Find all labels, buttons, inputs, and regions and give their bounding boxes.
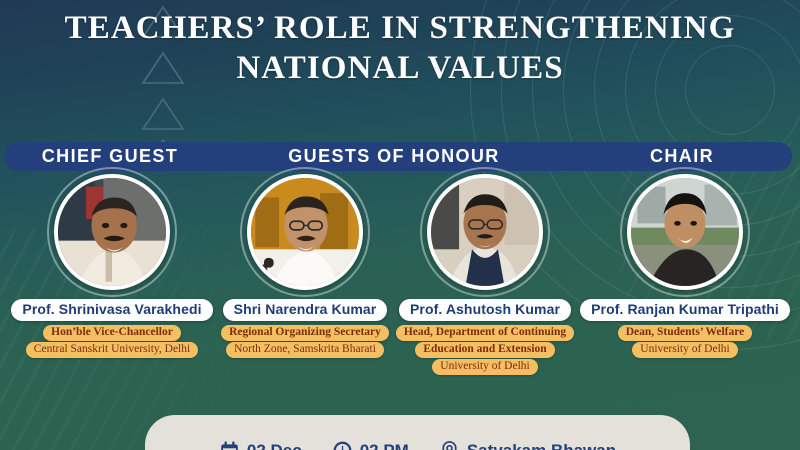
portrait-ashutosh-kumar bbox=[427, 174, 543, 290]
event-time: 02 PM bbox=[332, 440, 409, 450]
speaker-card: Prof. Shrinivasa Varakhedi Hon’ble Vice-… bbox=[6, 174, 218, 358]
poster-title: TEACHERS’ ROLE IN STRENGTHENING NATIONAL… bbox=[0, 8, 800, 88]
speaker-name: Shri Narendra Kumar bbox=[223, 299, 388, 321]
role-label-guests-of-honour: GUESTS OF HONOUR bbox=[214, 142, 574, 171]
speaker-subtitle: Hon’ble Vice-Chancellor Central Sanskrit… bbox=[6, 325, 218, 358]
clock-icon bbox=[332, 440, 353, 450]
speaker-subtitle: Dean, Students’ Welfare University of De… bbox=[572, 325, 798, 358]
event-time-text: 02 PM bbox=[360, 441, 409, 450]
avatar bbox=[427, 174, 543, 290]
speaker-name: Prof. Ashutosh Kumar bbox=[399, 299, 571, 321]
role-header-band: CHIEF GUEST GUESTS OF HONOUR CHAIR bbox=[4, 142, 792, 171]
speaker-subtitle-line: Central Sanskrit University, Delhi bbox=[26, 342, 198, 358]
speaker-name: Prof. Shrinivasa Varakhedi bbox=[11, 299, 212, 321]
speaker-subtitle-line: Hon’ble Vice-Chancellor bbox=[43, 325, 181, 341]
event-info-panel: 02 Dec 02 PM Satyakam Bha bbox=[145, 415, 690, 450]
event-date-text: 02 Dec bbox=[247, 441, 302, 450]
speaker-card: Prof. Ranjan Kumar Tripathi Dean, Studen… bbox=[572, 174, 798, 358]
speaker-subtitle: Head, Department of Continuing Education… bbox=[390, 325, 580, 375]
portrait-narendra-kumar bbox=[247, 174, 363, 290]
speaker-card: Prof. Ashutosh Kumar Head, Department of… bbox=[390, 174, 580, 375]
avatar bbox=[627, 174, 743, 290]
event-date: 02 Dec bbox=[219, 440, 302, 450]
avatar bbox=[54, 174, 170, 290]
speaker-subtitle-line: Head, Department of Continuing bbox=[396, 325, 574, 341]
event-venue-text: Satyakam Bhawan bbox=[467, 441, 616, 450]
location-icon bbox=[439, 440, 460, 450]
event-venue: Satyakam Bhawan bbox=[439, 440, 616, 450]
speaker-subtitle-line: Regional Organizing Secretary bbox=[221, 325, 389, 341]
speaker-subtitle-line: University of Delhi bbox=[632, 342, 737, 358]
speaker-subtitle-line: Education and Extension bbox=[415, 342, 554, 358]
speaker-card: Shri Narendra Kumar Regional Organizing … bbox=[202, 174, 408, 358]
portrait-shrinivasa-varakhedi bbox=[54, 174, 170, 290]
event-poster: TEACHERS’ ROLE IN STRENGTHENING NATIONAL… bbox=[0, 0, 800, 450]
speaker-subtitle-line: University of Delhi bbox=[432, 359, 537, 375]
speaker-name: Prof. Ranjan Kumar Tripathi bbox=[580, 299, 790, 321]
title-line-1: TEACHERS’ ROLE IN STRENGTHENING bbox=[0, 8, 800, 48]
speaker-subtitle-line: North Zone, Samskrita Bharati bbox=[226, 342, 384, 358]
speaker-subtitle: Regional Organizing Secretary North Zone… bbox=[202, 325, 408, 358]
avatar bbox=[247, 174, 363, 290]
title-line-2: NATIONAL VALUES bbox=[0, 48, 800, 88]
calendar-icon bbox=[219, 440, 240, 450]
portrait-ranjan-kumar-tripathi bbox=[627, 174, 743, 290]
speakers-row: Prof. Shrinivasa Varakhedi Hon’ble Vice-… bbox=[0, 174, 800, 384]
speaker-subtitle-line: Dean, Students’ Welfare bbox=[618, 325, 753, 341]
